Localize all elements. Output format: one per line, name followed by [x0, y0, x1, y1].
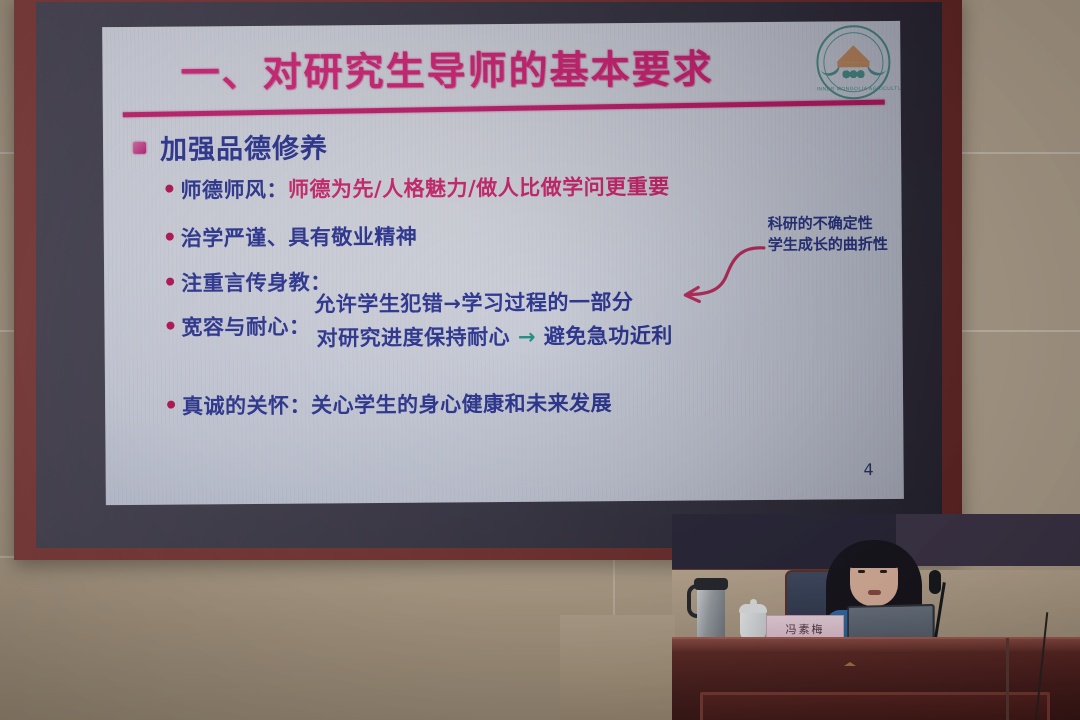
podium-area: 冯素梅 [0, 520, 1080, 720]
annotation-line-1: 科研的不确定性 [768, 213, 888, 235]
round-bullet-icon [166, 233, 174, 241]
podium-front-panel [700, 692, 1050, 720]
teacup-knob [750, 599, 757, 606]
bullet-label: 真诚的关怀：关心学生的身心健康和未来发展 [182, 391, 612, 418]
thermos-flask [697, 586, 725, 644]
bullet-item: 师德师风：师德为先/人格魅力/做人比做学问更重要 [165, 171, 670, 205]
bullet-label: 宽容与耐心： [181, 315, 310, 340]
block-line-2-b: 避免急功近利 [544, 324, 673, 349]
bullet-item: 宽容与耐心： [166, 311, 310, 342]
bullet-item: 治学严谨、具有敬业精神 [166, 221, 418, 253]
projection-screen-bezel: 一、对研究生导师的基本要求 INNER MONGOLIA AGRICULTURA… [36, 2, 942, 548]
round-bullet-icon [167, 401, 175, 409]
eye [880, 570, 887, 573]
lecture-room: 一、对研究生导师的基本要求 INNER MONGOLIA AGRICULTURA… [0, 0, 1080, 720]
slide-page-number: 4 [863, 460, 873, 479]
stand-pole [1006, 638, 1009, 720]
arrow-right-icon: → [518, 325, 536, 349]
handwritten-annotation: 科研的不确定性 学生成长的曲折性 [768, 213, 888, 256]
nameplate-text: 冯素梅 [786, 621, 825, 637]
bullet-label: 注重言传身教： [181, 270, 332, 295]
title-divider-rule [123, 100, 885, 118]
seal-bottom-text: INNER MONGOLIA AGRICULTURAL UNIVERSITY [817, 86, 891, 93]
microphone-icon [929, 570, 941, 594]
block-line-1: 允许学生犯错→学习过程的一部分 [314, 285, 633, 322]
slide-title: 一、对研究生导师的基本要求 [180, 38, 713, 98]
curved-arrow-icon [672, 244, 767, 307]
round-bullet-icon [166, 278, 174, 286]
block-line-1-a: 允许学生犯错 [314, 291, 443, 316]
annotation-line-2: 学生成长的曲折性 [768, 234, 888, 256]
bullet-label: 治学严谨、具有敬业精神 [181, 225, 418, 251]
arrow-right-icon: → [443, 291, 461, 315]
presentation-slide: 一、对研究生导师的基本要求 INNER MONGOLIA AGRICULTURA… [102, 21, 904, 505]
block-line-1-b: 学习过程的一部分 [461, 290, 633, 315]
projection-screen-frame: 一、对研究生导师的基本要求 INNER MONGOLIA AGRICULTURA… [14, 0, 962, 560]
bullet-label: 师德师风： [180, 178, 288, 203]
diamond-bullet-icon [133, 141, 146, 153]
block-line-2-a: 对研究进度保持耐心 [316, 325, 510, 351]
wall-left-of-podium [560, 615, 675, 720]
eye [858, 570, 865, 573]
bullet-emphasis: 师德为先/人格魅力/做人比做学问更重要 [288, 175, 670, 202]
teacup [740, 610, 766, 640]
level1-bullet-label: 加强品德修养 [160, 126, 328, 166]
level1-bullet: 加强品德修养 [133, 126, 328, 167]
round-bullet-icon [166, 322, 174, 330]
thermos-cap [694, 578, 728, 590]
university-seal-icon: INNER MONGOLIA AGRICULTURAL UNIVERSITY [816, 25, 891, 100]
fringe [846, 542, 902, 568]
block-line-2: 对研究进度保持耐心 → 避免急功近利 [316, 319, 672, 356]
bullet-item: 真诚的关怀：关心学生的身心健康和未来发展 [167, 387, 612, 420]
mouth [868, 590, 881, 595]
round-bullet-icon [165, 185, 173, 193]
bullet-item: 注重言传身教： [166, 266, 332, 297]
